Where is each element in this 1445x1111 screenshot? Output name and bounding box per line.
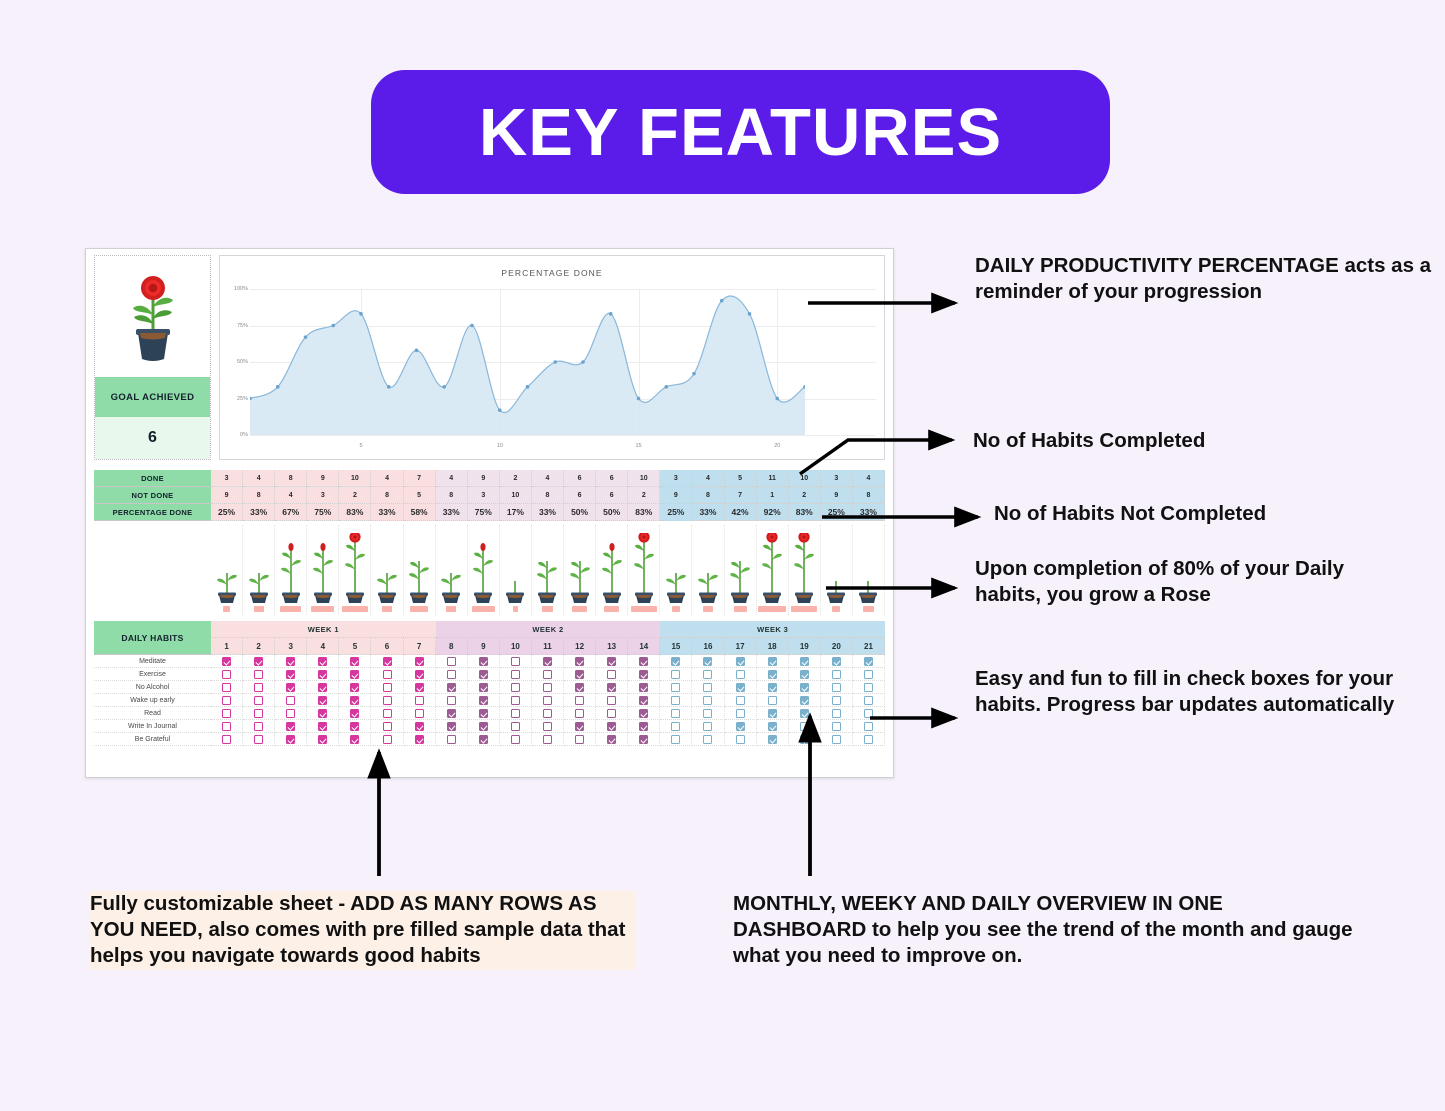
habit-checkbox-cell[interactable] xyxy=(371,681,403,694)
habit-checkbox-cell[interactable] xyxy=(853,694,885,707)
habit-checkbox-cell[interactable] xyxy=(339,733,371,746)
habit-checkbox-cell[interactable] xyxy=(371,694,403,707)
habit-checkbox-cell[interactable] xyxy=(853,707,885,720)
habit-checkbox-cell[interactable] xyxy=(211,655,243,668)
checkbox-unchecked-icon[interactable] xyxy=(254,709,263,718)
habit-checkbox-cell[interactable] xyxy=(371,668,403,681)
habit-checkbox-cell[interactable] xyxy=(628,681,660,694)
habit-checkbox-cell[interactable] xyxy=(853,733,885,746)
habit-checkbox-cell[interactable] xyxy=(564,733,596,746)
checkbox-checked-icon[interactable] xyxy=(318,722,327,731)
checkbox-checked-icon[interactable] xyxy=(800,696,809,705)
checkbox-checked-icon[interactable] xyxy=(736,683,745,692)
habit-checkbox-cell[interactable] xyxy=(500,655,532,668)
habit-checkbox-cell[interactable] xyxy=(243,668,275,681)
checkbox-checked-icon[interactable] xyxy=(479,670,488,679)
habit-checkbox-cell[interactable] xyxy=(339,707,371,720)
checkbox-unchecked-icon[interactable] xyxy=(543,722,552,731)
checkbox-checked-icon[interactable] xyxy=(286,670,295,679)
habit-checkbox-cell[interactable] xyxy=(307,720,339,733)
habit-checkbox-cell[interactable] xyxy=(692,694,724,707)
checkbox-unchecked-icon[interactable] xyxy=(222,670,231,679)
checkbox-checked-icon[interactable] xyxy=(800,670,809,679)
checkbox-checked-icon[interactable] xyxy=(447,683,456,692)
checkbox-unchecked-icon[interactable] xyxy=(864,735,873,744)
habit-checkbox-cell[interactable] xyxy=(275,733,307,746)
checkbox-checked-icon[interactable] xyxy=(350,735,359,744)
checkbox-unchecked-icon[interactable] xyxy=(736,709,745,718)
habit-checkbox-cell[interactable] xyxy=(500,681,532,694)
checkbox-checked-icon[interactable] xyxy=(800,683,809,692)
checkbox-unchecked-icon[interactable] xyxy=(575,709,584,718)
checkbox-checked-icon[interactable] xyxy=(639,670,648,679)
checkbox-checked-icon[interactable] xyxy=(479,709,488,718)
habit-checkbox-cell[interactable] xyxy=(660,681,692,694)
checkbox-checked-icon[interactable] xyxy=(736,657,745,666)
checkbox-checked-icon[interactable] xyxy=(736,722,745,731)
checkbox-checked-icon[interactable] xyxy=(286,735,295,744)
checkbox-unchecked-icon[interactable] xyxy=(254,683,263,692)
habit-checkbox-cell[interactable] xyxy=(468,668,500,681)
checkbox-checked-icon[interactable] xyxy=(639,657,648,666)
checkbox-checked-icon[interactable] xyxy=(607,683,616,692)
habit-checkbox-cell[interactable] xyxy=(500,707,532,720)
checkbox-checked-icon[interactable] xyxy=(350,722,359,731)
habit-checkbox-cell[interactable] xyxy=(532,733,564,746)
checkbox-unchecked-icon[interactable] xyxy=(703,670,712,679)
habit-checkbox-cell[interactable] xyxy=(596,681,628,694)
habit-checkbox-cell[interactable] xyxy=(596,733,628,746)
checkbox-checked-icon[interactable] xyxy=(479,722,488,731)
habit-checkbox-cell[interactable] xyxy=(243,694,275,707)
habit-checkbox-cell[interactable] xyxy=(564,681,596,694)
habit-checkbox-cell[interactable] xyxy=(532,668,564,681)
checkbox-checked-icon[interactable] xyxy=(543,657,552,666)
checkbox-checked-icon[interactable] xyxy=(800,709,809,718)
checkbox-unchecked-icon[interactable] xyxy=(511,709,520,718)
checkbox-unchecked-icon[interactable] xyxy=(832,696,841,705)
checkbox-unchecked-icon[interactable] xyxy=(254,722,263,731)
checkbox-checked-icon[interactable] xyxy=(222,657,231,666)
habit-checkbox-cell[interactable] xyxy=(757,681,789,694)
habit-checkbox-cell[interactable] xyxy=(853,668,885,681)
checkbox-unchecked-icon[interactable] xyxy=(447,657,456,666)
habit-checkbox-cell[interactable] xyxy=(789,720,821,733)
habit-checkbox-cell[interactable] xyxy=(339,720,371,733)
checkbox-checked-icon[interactable] xyxy=(447,722,456,731)
habit-checkbox-cell[interactable] xyxy=(436,694,468,707)
habit-checkbox-cell[interactable] xyxy=(821,668,853,681)
habit-checkbox-cell[interactable] xyxy=(211,733,243,746)
checkbox-unchecked-icon[interactable] xyxy=(736,696,745,705)
habit-checkbox-cell[interactable] xyxy=(371,707,403,720)
habit-checkbox-cell[interactable] xyxy=(692,707,724,720)
checkbox-unchecked-icon[interactable] xyxy=(703,683,712,692)
habit-checkbox-cell[interactable] xyxy=(468,720,500,733)
checkbox-checked-icon[interactable] xyxy=(318,683,327,692)
checkbox-unchecked-icon[interactable] xyxy=(511,735,520,744)
habit-checkbox-cell[interactable] xyxy=(211,694,243,707)
habit-checkbox-cell[interactable] xyxy=(404,668,436,681)
checkbox-unchecked-icon[interactable] xyxy=(383,709,392,718)
habit-checkbox-cell[interactable] xyxy=(500,694,532,707)
checkbox-checked-icon[interactable] xyxy=(350,683,359,692)
checkbox-checked-icon[interactable] xyxy=(286,657,295,666)
habit-checkbox-cell[interactable] xyxy=(821,694,853,707)
habit-checkbox-cell[interactable] xyxy=(821,720,853,733)
checkbox-checked-icon[interactable] xyxy=(800,657,809,666)
habit-checkbox-cell[interactable] xyxy=(371,655,403,668)
checkbox-checked-icon[interactable] xyxy=(447,709,456,718)
checkbox-checked-icon[interactable] xyxy=(575,657,584,666)
habit-checkbox-cell[interactable] xyxy=(339,655,371,668)
checkbox-checked-icon[interactable] xyxy=(575,722,584,731)
habit-checkbox-cell[interactable] xyxy=(725,707,757,720)
habit-checkbox-cell[interactable] xyxy=(789,668,821,681)
habit-checkbox-cell[interactable] xyxy=(532,694,564,707)
habit-checkbox-cell[interactable] xyxy=(692,681,724,694)
habit-checkbox-cell[interactable] xyxy=(628,707,660,720)
checkbox-unchecked-icon[interactable] xyxy=(800,722,809,731)
checkbox-unchecked-icon[interactable] xyxy=(671,709,680,718)
checkbox-unchecked-icon[interactable] xyxy=(511,683,520,692)
habit-checkbox-cell[interactable] xyxy=(243,707,275,720)
habit-checkbox-cell[interactable] xyxy=(628,733,660,746)
checkbox-checked-icon[interactable] xyxy=(671,657,680,666)
habit-checkbox-cell[interactable] xyxy=(500,668,532,681)
habit-checkbox-cell[interactable] xyxy=(757,720,789,733)
habit-checkbox-cell[interactable] xyxy=(564,694,596,707)
habit-checkbox-cell[interactable] xyxy=(404,707,436,720)
habit-checkbox-cell[interactable] xyxy=(853,655,885,668)
checkbox-checked-icon[interactable] xyxy=(639,722,648,731)
checkbox-checked-icon[interactable] xyxy=(318,670,327,679)
habit-checkbox-cell[interactable] xyxy=(628,655,660,668)
habit-checkbox-cell[interactable] xyxy=(211,707,243,720)
habit-checkbox-cell[interactable] xyxy=(660,694,692,707)
checkbox-unchecked-icon[interactable] xyxy=(222,683,231,692)
checkbox-unchecked-icon[interactable] xyxy=(222,696,231,705)
habit-checkbox-cell[interactable] xyxy=(596,668,628,681)
habit-checkbox-cell[interactable] xyxy=(243,681,275,694)
habit-checkbox-grid[interactable]: WEEK 11234567WEEK 2891011121314WEEK 3151… xyxy=(211,621,885,746)
habit-checkbox-cell[interactable] xyxy=(436,733,468,746)
habit-checkbox-cell[interactable] xyxy=(404,681,436,694)
habit-checkbox-cell[interactable] xyxy=(660,733,692,746)
habit-checkbox-cell[interactable] xyxy=(468,655,500,668)
checkbox-unchecked-icon[interactable] xyxy=(575,735,584,744)
habit-checkbox-cell[interactable] xyxy=(660,655,692,668)
habit-checkbox-cell[interactable] xyxy=(436,668,468,681)
checkbox-unchecked-icon[interactable] xyxy=(864,722,873,731)
checkbox-checked-icon[interactable] xyxy=(479,657,488,666)
habit-checkbox-cell[interactable] xyxy=(725,694,757,707)
habit-checkbox-cell[interactable] xyxy=(532,707,564,720)
checkbox-unchecked-icon[interactable] xyxy=(671,670,680,679)
habit-checkbox-cell[interactable] xyxy=(660,720,692,733)
checkbox-unchecked-icon[interactable] xyxy=(864,670,873,679)
checkbox-unchecked-icon[interactable] xyxy=(383,670,392,679)
checkbox-checked-icon[interactable] xyxy=(350,670,359,679)
checkbox-checked-icon[interactable] xyxy=(350,696,359,705)
habit-checkbox-cell[interactable] xyxy=(436,707,468,720)
habit-checkbox-cell[interactable] xyxy=(596,720,628,733)
checkbox-checked-icon[interactable] xyxy=(639,696,648,705)
checkbox-unchecked-icon[interactable] xyxy=(415,696,424,705)
habit-checkbox-cell[interactable] xyxy=(275,694,307,707)
habit-checkbox-cell[interactable] xyxy=(436,681,468,694)
checkbox-unchecked-icon[interactable] xyxy=(222,722,231,731)
checkbox-unchecked-icon[interactable] xyxy=(575,696,584,705)
habit-checkbox-cell[interactable] xyxy=(339,681,371,694)
habit-checkbox-cell[interactable] xyxy=(211,681,243,694)
habit-checkbox-cell[interactable] xyxy=(628,668,660,681)
checkbox-checked-icon[interactable] xyxy=(607,722,616,731)
habit-checkbox-cell[interactable] xyxy=(725,655,757,668)
habit-checkbox-cell[interactable] xyxy=(789,694,821,707)
habit-checkbox-cell[interactable] xyxy=(532,720,564,733)
habit-checkbox-cell[interactable] xyxy=(853,720,885,733)
checkbox-checked-icon[interactable] xyxy=(318,735,327,744)
habit-checkbox-cell[interactable] xyxy=(564,707,596,720)
checkbox-checked-icon[interactable] xyxy=(415,683,424,692)
checkbox-unchecked-icon[interactable] xyxy=(703,722,712,731)
habit-checkbox-cell[interactable] xyxy=(468,694,500,707)
habit-checkbox-cell[interactable] xyxy=(404,720,436,733)
percentage-done-chart[interactable]: PERCENTAGE DONE 0%25%50%75%100%5101520 xyxy=(219,255,885,460)
habit-checkbox-cell[interactable] xyxy=(853,681,885,694)
checkbox-checked-icon[interactable] xyxy=(415,657,424,666)
checkbox-checked-icon[interactable] xyxy=(479,696,488,705)
checkbox-unchecked-icon[interactable] xyxy=(607,709,616,718)
checkbox-unchecked-icon[interactable] xyxy=(222,709,231,718)
checkbox-unchecked-icon[interactable] xyxy=(447,670,456,679)
habit-checkbox-cell[interactable] xyxy=(789,733,821,746)
checkbox-unchecked-icon[interactable] xyxy=(864,683,873,692)
checkbox-checked-icon[interactable] xyxy=(318,657,327,666)
habit-checkbox-cell[interactable] xyxy=(404,733,436,746)
checkbox-checked-icon[interactable] xyxy=(864,657,873,666)
checkbox-unchecked-icon[interactable] xyxy=(671,735,680,744)
checkbox-unchecked-icon[interactable] xyxy=(736,670,745,679)
checkbox-checked-icon[interactable] xyxy=(479,735,488,744)
habit-checkbox-cell[interactable] xyxy=(275,681,307,694)
checkbox-checked-icon[interactable] xyxy=(415,722,424,731)
habit-checkbox-cell[interactable] xyxy=(821,733,853,746)
checkbox-checked-icon[interactable] xyxy=(768,735,777,744)
checkbox-checked-icon[interactable] xyxy=(479,683,488,692)
habit-checkbox-cell[interactable] xyxy=(211,720,243,733)
habit-checkbox-cell[interactable] xyxy=(532,655,564,668)
checkbox-unchecked-icon[interactable] xyxy=(447,696,456,705)
habit-checkbox-cell[interactable] xyxy=(660,668,692,681)
checkbox-unchecked-icon[interactable] xyxy=(286,696,295,705)
habit-checkbox-cell[interactable] xyxy=(211,668,243,681)
checkbox-unchecked-icon[interactable] xyxy=(607,670,616,679)
checkbox-unchecked-icon[interactable] xyxy=(511,657,520,666)
checkbox-unchecked-icon[interactable] xyxy=(832,735,841,744)
checkbox-checked-icon[interactable] xyxy=(639,735,648,744)
habit-checkbox-cell[interactable] xyxy=(275,655,307,668)
checkbox-unchecked-icon[interactable] xyxy=(703,709,712,718)
habit-checkbox-cell[interactable] xyxy=(660,707,692,720)
habit-checkbox-cell[interactable] xyxy=(789,707,821,720)
habit-checkbox-cell[interactable] xyxy=(564,720,596,733)
checkbox-unchecked-icon[interactable] xyxy=(768,696,777,705)
checkbox-unchecked-icon[interactable] xyxy=(832,722,841,731)
habit-checkbox-cell[interactable] xyxy=(371,733,403,746)
habit-checkbox-cell[interactable] xyxy=(821,681,853,694)
checkbox-unchecked-icon[interactable] xyxy=(864,696,873,705)
checkbox-checked-icon[interactable] xyxy=(768,670,777,679)
checkbox-unchecked-icon[interactable] xyxy=(511,722,520,731)
checkbox-checked-icon[interactable] xyxy=(254,657,263,666)
checkbox-unchecked-icon[interactable] xyxy=(671,683,680,692)
checkbox-checked-icon[interactable] xyxy=(639,709,648,718)
habit-checkbox-cell[interactable] xyxy=(243,720,275,733)
checkbox-unchecked-icon[interactable] xyxy=(415,709,424,718)
habit-checkbox-cell[interactable] xyxy=(339,694,371,707)
checkbox-unchecked-icon[interactable] xyxy=(607,696,616,705)
habit-checkbox-cell[interactable] xyxy=(596,694,628,707)
checkbox-checked-icon[interactable] xyxy=(639,683,648,692)
checkbox-unchecked-icon[interactable] xyxy=(671,696,680,705)
checkbox-checked-icon[interactable] xyxy=(318,696,327,705)
habit-checkbox-cell[interactable] xyxy=(500,733,532,746)
habit-checkbox-cell[interactable] xyxy=(725,733,757,746)
checkbox-unchecked-icon[interactable] xyxy=(254,696,263,705)
checkbox-unchecked-icon[interactable] xyxy=(832,683,841,692)
checkbox-checked-icon[interactable] xyxy=(350,709,359,718)
checkbox-unchecked-icon[interactable] xyxy=(383,735,392,744)
habit-checkbox-cell[interactable] xyxy=(307,668,339,681)
habit-checkbox-cell[interactable] xyxy=(468,681,500,694)
habit-checkbox-cell[interactable] xyxy=(757,655,789,668)
habit-checkbox-cell[interactable] xyxy=(692,720,724,733)
habit-checkbox-cell[interactable] xyxy=(757,668,789,681)
habit-checkbox-cell[interactable] xyxy=(275,720,307,733)
stats-cell: 4 xyxy=(371,470,403,487)
checkbox-unchecked-icon[interactable] xyxy=(864,709,873,718)
habit-checkbox-cell[interactable] xyxy=(564,668,596,681)
habit-checkbox-cell[interactable] xyxy=(757,694,789,707)
checkbox-unchecked-icon[interactable] xyxy=(543,709,552,718)
checkbox-checked-icon[interactable] xyxy=(832,657,841,666)
habit-checkbox-cell[interactable] xyxy=(307,655,339,668)
checkbox-unchecked-icon[interactable] xyxy=(222,735,231,744)
checkbox-checked-icon[interactable] xyxy=(607,657,616,666)
habit-checkbox-cell[interactable] xyxy=(243,733,275,746)
daily-habits-table[interactable]: DAILY HABITS MeditateExerciseNo AlcoholW… xyxy=(94,621,885,746)
checkbox-unchecked-icon[interactable] xyxy=(543,670,552,679)
checkbox-unchecked-icon[interactable] xyxy=(736,735,745,744)
habit-checkbox-cell[interactable] xyxy=(404,655,436,668)
habit-checkbox-cell[interactable] xyxy=(404,694,436,707)
habit-checkbox-cell[interactable] xyxy=(628,694,660,707)
habit-checkbox-cell[interactable] xyxy=(339,668,371,681)
checkbox-unchecked-icon[interactable] xyxy=(543,683,552,692)
checkbox-unchecked-icon[interactable] xyxy=(543,735,552,744)
checkbox-checked-icon[interactable] xyxy=(286,683,295,692)
habit-checkbox-cell[interactable] xyxy=(628,720,660,733)
habit-checkbox-cell[interactable] xyxy=(692,668,724,681)
habit-checkbox-cell[interactable] xyxy=(307,681,339,694)
habit-checkbox-cell[interactable] xyxy=(789,655,821,668)
day-column: 13 xyxy=(596,638,628,746)
checkbox-unchecked-icon[interactable] xyxy=(447,735,456,744)
habit-checkbox-cell[interactable] xyxy=(436,720,468,733)
habit-checkbox-cell[interactable] xyxy=(757,707,789,720)
habit-checkbox-cell[interactable] xyxy=(307,694,339,707)
habit-checkbox-cell[interactable] xyxy=(821,707,853,720)
habit-checkbox-cell[interactable] xyxy=(725,681,757,694)
habit-checkbox-cell[interactable] xyxy=(692,655,724,668)
habit-checkbox-cell[interactable] xyxy=(243,655,275,668)
habit-checkbox-cell[interactable] xyxy=(692,733,724,746)
checkbox-checked-icon[interactable] xyxy=(607,735,616,744)
habit-checkbox-cell[interactable] xyxy=(564,655,596,668)
checkbox-unchecked-icon[interactable] xyxy=(543,696,552,705)
checkbox-checked-icon[interactable] xyxy=(575,670,584,679)
habit-checkbox-cell[interactable] xyxy=(500,720,532,733)
habit-tracker-spreadsheet[interactable]: GOAL ACHIEVED 6 PERCENTAGE DONE 0%25%50%… xyxy=(85,248,894,778)
habit-checkbox-cell[interactable] xyxy=(725,668,757,681)
checkbox-unchecked-icon[interactable] xyxy=(383,696,392,705)
checkbox-checked-icon[interactable] xyxy=(383,657,392,666)
checkbox-unchecked-icon[interactable] xyxy=(383,683,392,692)
checkbox-checked-icon[interactable] xyxy=(768,683,777,692)
habit-checkbox-cell[interactable] xyxy=(725,720,757,733)
checkbox-checked-icon[interactable] xyxy=(768,709,777,718)
habit-checkbox-cell[interactable] xyxy=(596,707,628,720)
checkbox-checked-icon[interactable] xyxy=(703,657,712,666)
checkbox-checked-icon[interactable] xyxy=(415,670,424,679)
checkbox-unchecked-icon[interactable] xyxy=(254,735,263,744)
habit-checkbox-cell[interactable] xyxy=(596,655,628,668)
habit-checkbox-cell[interactable] xyxy=(275,707,307,720)
habit-checkbox-cell[interactable] xyxy=(436,655,468,668)
checkbox-unchecked-icon[interactable] xyxy=(511,670,520,679)
checkbox-checked-icon[interactable] xyxy=(318,709,327,718)
checkbox-checked-icon[interactable] xyxy=(768,657,777,666)
habit-checkbox-cell[interactable] xyxy=(468,733,500,746)
checkbox-unchecked-icon[interactable] xyxy=(832,709,841,718)
habit-checkbox-cell[interactable] xyxy=(532,681,564,694)
habit-checkbox-cell[interactable] xyxy=(307,733,339,746)
checkbox-unchecked-icon[interactable] xyxy=(383,722,392,731)
checkbox-checked-icon[interactable] xyxy=(768,722,777,731)
checkbox-unchecked-icon[interactable] xyxy=(511,696,520,705)
checkbox-unchecked-icon[interactable] xyxy=(703,696,712,705)
checkbox-unchecked-icon[interactable] xyxy=(286,709,295,718)
habit-checkbox-cell[interactable] xyxy=(757,733,789,746)
checkbox-checked-icon[interactable] xyxy=(415,735,424,744)
habit-checkbox-cell[interactable] xyxy=(468,707,500,720)
habit-checkbox-cell[interactable] xyxy=(821,655,853,668)
checkbox-checked-icon[interactable] xyxy=(350,657,359,666)
checkbox-checked-icon[interactable] xyxy=(800,735,809,744)
checkbox-unchecked-icon[interactable] xyxy=(703,735,712,744)
habit-checkbox-cell[interactable] xyxy=(275,668,307,681)
checkbox-unchecked-icon[interactable] xyxy=(671,722,680,731)
habit-checkbox-cell[interactable] xyxy=(371,720,403,733)
checkbox-checked-icon[interactable] xyxy=(286,722,295,731)
checkbox-checked-icon[interactable] xyxy=(575,683,584,692)
checkbox-unchecked-icon[interactable] xyxy=(832,670,841,679)
habit-checkbox-cell[interactable] xyxy=(307,707,339,720)
checkbox-unchecked-icon[interactable] xyxy=(254,670,263,679)
habit-checkbox-cell[interactable] xyxy=(789,681,821,694)
